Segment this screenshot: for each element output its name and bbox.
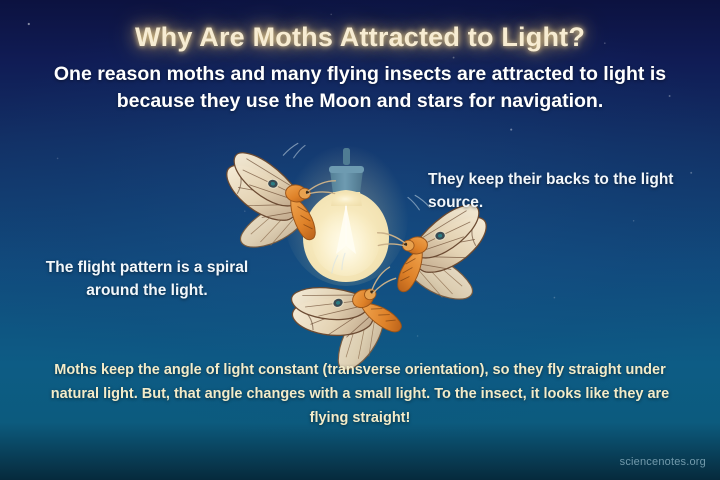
bulb-glow (284, 146, 408, 286)
caption-backs-to-light: They keep their backs to the light sourc… (428, 168, 690, 214)
source-watermark: sciencenotes.org (620, 456, 706, 468)
page-subtitle: One reason moths and many flying insects… (38, 61, 682, 115)
infographic-canvas: Why Are Moths Attracted to Light? One re… (0, 0, 720, 480)
page-title: Why Are Moths Attracted to Light? (0, 22, 720, 53)
caption-spiral-flight: The flight pattern is a spiral around th… (22, 256, 272, 302)
explanation-paragraph: Moths keep the angle of light constant (… (36, 358, 684, 430)
